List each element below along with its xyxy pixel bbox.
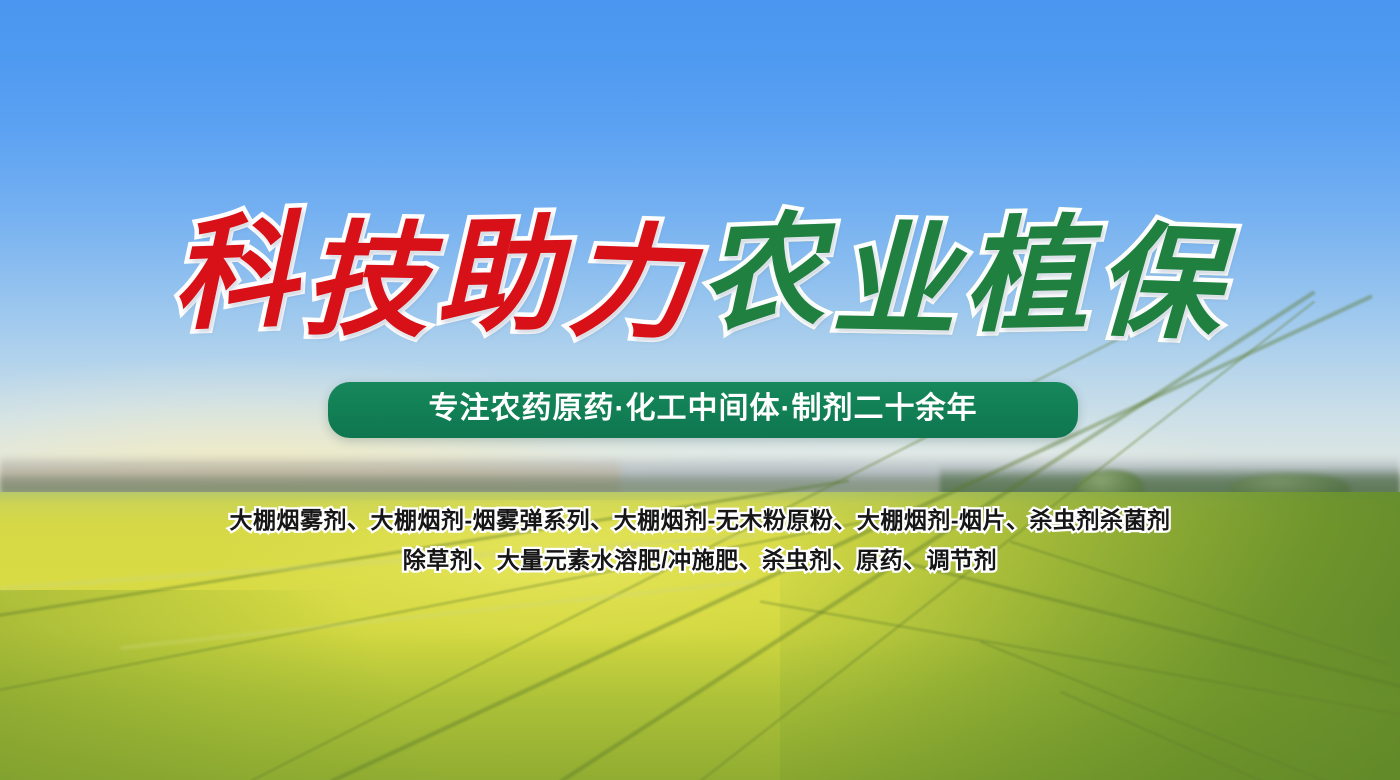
title-char-1: 科 — [169, 197, 306, 352]
title-char-4: 力 — [565, 207, 702, 362]
banner-title: 科技助力农业植保 — [0, 205, 1400, 355]
title-char-5: 农 — [697, 197, 834, 352]
product-line-1: 大棚烟雾剂、大棚烟剂-烟雾弹系列、大棚烟剂-无木粉原粉、大棚烟剂-烟片、杀虫剂杀… — [0, 500, 1400, 540]
subtitle-pill-text: 专注农药原药·化工中间体·制剂二十余年 — [429, 394, 978, 426]
promotional-banner: 科技助力农业植保 专注农药原药·化工中间体·制剂二十余年 大棚烟雾剂、大棚烟剂-… — [0, 0, 1400, 780]
title-char-8: 保 — [1093, 207, 1230, 362]
product-line-2: 除草剂、大量元素水溶肥/冲施肥、杀虫剂、原药、调节剂 — [0, 540, 1400, 580]
title-char-2: 技 — [303, 206, 438, 358]
subtitle-pill: 专注农药原药·化工中间体·制剂二十余年 — [328, 382, 1078, 438]
title-char-7: 植 — [963, 201, 1098, 353]
title-char-6: 业 — [831, 206, 966, 358]
title-char-3: 助 — [435, 201, 570, 353]
product-list: 大棚烟雾剂、大棚烟剂-烟雾弹系列、大棚烟剂-无木粉原粉、大棚烟剂-烟片、杀虫剂杀… — [0, 500, 1400, 580]
